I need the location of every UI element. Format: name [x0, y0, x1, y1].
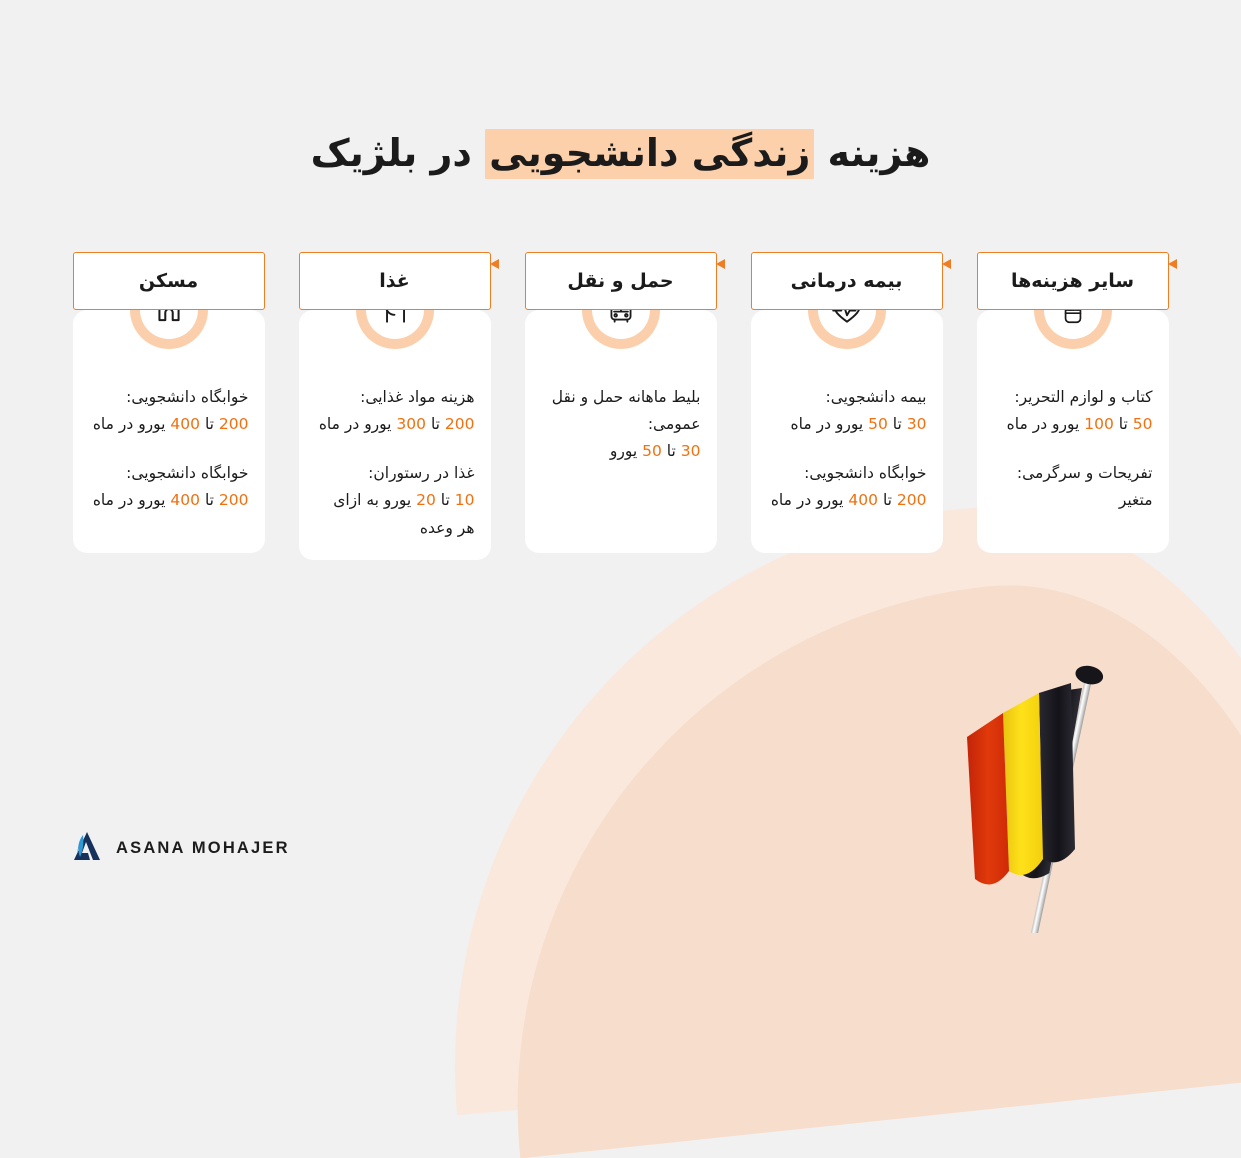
cost-range-separator: تا [436, 491, 455, 509]
cost-range-separator: تا [200, 415, 219, 433]
cost-column: حمل و نقلبلیط ماهانه حمل و نقل عمومی:30 … [525, 252, 717, 560]
cost-value-max: 400 [170, 415, 200, 433]
cost-card: خوابگاه دانشجویی:200 تا 400 یورو در ماهخ… [73, 310, 265, 553]
cost-card: بیمه دانشجویی:30 تا 50 یورو در ماهخوابگا… [751, 310, 943, 553]
cost-value-max: 50 [868, 415, 888, 433]
cost-entry-label: تفریحات و سرگرمی: [1017, 464, 1153, 482]
cost-unit-text: یورو در ماه [93, 491, 171, 509]
cost-entry-label: کتاب و لوازم التحریر: [1014, 388, 1152, 406]
cost-column: سایر هزینه‌هاکتاب و لوازم التحریر:50 تا … [977, 252, 1169, 560]
cost-unit-text: متغیر [1119, 491, 1153, 509]
cost-value-max: 20 [416, 491, 436, 509]
cost-range-separator: تا [1114, 415, 1133, 433]
category-header-4[interactable]: بیمه درمانی [751, 252, 943, 310]
cost-entry: کتاب و لوازم التحریر:50 تا 100 یورو در م… [993, 384, 1153, 438]
card-text: بیمه دانشجویی:30 تا 50 یورو در ماهخوابگا… [767, 384, 927, 515]
cost-value-min: 200 [897, 491, 927, 509]
cost-value-max: 100 [1084, 415, 1114, 433]
cost-entry-label: هزینه مواد غذایی: [360, 388, 474, 406]
cost-card: بلیط ماهانه حمل و نقل عمومی:30 تا 50 یور… [525, 310, 717, 553]
category-header-3[interactable]: حمل و نقل [525, 252, 717, 310]
cost-range-separator: تا [888, 415, 907, 433]
cost-entry-label: خوابگاه دانشجویی: [126, 388, 248, 406]
cost-unit-text: یورو در ماه [771, 491, 849, 509]
brand-name: ASANA MOHAJER [116, 839, 290, 858]
cost-entry: خوابگاه دانشجویی:200 تا 400 یورو در ماه [767, 460, 927, 514]
title-highlight: زندگی دانشجویی [485, 129, 814, 179]
category-header-1[interactable]: مسکن [73, 252, 265, 310]
brand-logo: ASANA MOHAJER [70, 829, 290, 867]
cost-entry: خوابگاه دانشجویی:200 تا 400 یورو در ماه [89, 460, 249, 514]
cost-entry-label: بلیط ماهانه حمل و نقل عمومی: [552, 388, 701, 433]
cost-column: غذاهزینه مواد غذایی:200 تا 300 یورو در م… [299, 252, 491, 560]
cost-unit-text: یورو در ماه [319, 415, 397, 433]
cost-entry: بلیط ماهانه حمل و نقل عمومی:30 تا 50 یور… [541, 384, 701, 465]
cost-unit-text: یورو [610, 442, 642, 460]
cost-range-separator: تا [662, 442, 681, 460]
card-text: خوابگاه دانشجویی:200 تا 400 یورو در ماهخ… [89, 384, 249, 515]
cost-entry: تفریحات و سرگرمی:متغیر [993, 460, 1153, 514]
cost-entry-label: بیمه دانشجویی: [825, 388, 926, 406]
cost-entry: هزینه مواد غذایی:200 تا 300 یورو در ماه [315, 384, 475, 438]
cost-value-max: 400 [848, 491, 878, 509]
cost-range-separator: تا [200, 491, 219, 509]
cost-card: هزینه مواد غذایی:200 تا 300 یورو در ماهغ… [299, 310, 491, 560]
page-title: هزینه زندگی دانشجویی در بلژیک [311, 128, 931, 179]
cost-entry-label: غذا در رستوران: [368, 464, 474, 482]
cost-entry: بیمه دانشجویی:30 تا 50 یورو در ماه [767, 384, 927, 438]
cost-value-min: 50 [1133, 415, 1153, 433]
card-text: کتاب و لوازم التحریر:50 تا 100 یورو در م… [993, 384, 1153, 515]
cost-value-min: 30 [907, 415, 927, 433]
cost-value-min: 10 [455, 491, 475, 509]
cost-entry-label: خوابگاه دانشجویی: [804, 464, 926, 482]
cost-value-min: 200 [219, 415, 249, 433]
cost-value-max: 300 [396, 415, 426, 433]
title-before: هزینه [814, 131, 930, 175]
infographic-canvas: هزینه زندگی دانشجویی در بلژیک مسکنخوابگا… [0, 0, 1241, 927]
cost-column: بیمه درمانیبیمه دانشجویی:30 تا 50 یورو د… [751, 252, 943, 560]
card-text: هزینه مواد غذایی:200 تا 300 یورو در ماهغ… [315, 384, 475, 542]
belgium-flag [919, 653, 1179, 933]
cost-unit-text: یورو در ماه [791, 415, 869, 433]
cost-card: کتاب و لوازم التحریر:50 تا 100 یورو در م… [977, 310, 1169, 553]
cost-range-separator: تا [426, 415, 445, 433]
cost-range-separator: تا [878, 491, 897, 509]
category-header-2[interactable]: غذا [299, 252, 491, 310]
title-after: در بلژیک [311, 131, 485, 175]
card-text: بلیط ماهانه حمل و نقل عمومی:30 تا 50 یور… [541, 384, 701, 465]
title-block: هزینه زندگی دانشجویی در بلژیک [0, 128, 1241, 179]
cost-entry-label: خوابگاه دانشجویی: [126, 464, 248, 482]
cost-entry: غذا در رستوران:10 تا 20 یورو به ازای هر … [315, 460, 475, 541]
cost-value-min: 200 [219, 491, 249, 509]
cost-value-min: 30 [681, 442, 701, 460]
cost-unit-text: یورو در ماه [93, 415, 171, 433]
cost-column: مسکنخوابگاه دانشجویی:200 تا 400 یورو در … [73, 252, 265, 560]
cost-value-max: 400 [170, 491, 200, 509]
category-header-5[interactable]: سایر هزینه‌ها [977, 252, 1169, 310]
cost-unit-text: یورو در ماه [1007, 415, 1085, 433]
asana-a-mark [70, 829, 104, 867]
cost-entry: خوابگاه دانشجویی:200 تا 400 یورو در ماه [89, 384, 249, 438]
cost-value-min: 200 [445, 415, 475, 433]
cost-columns: مسکنخوابگاه دانشجویی:200 تا 400 یورو در … [0, 252, 1241, 560]
cost-value-max: 50 [642, 442, 662, 460]
